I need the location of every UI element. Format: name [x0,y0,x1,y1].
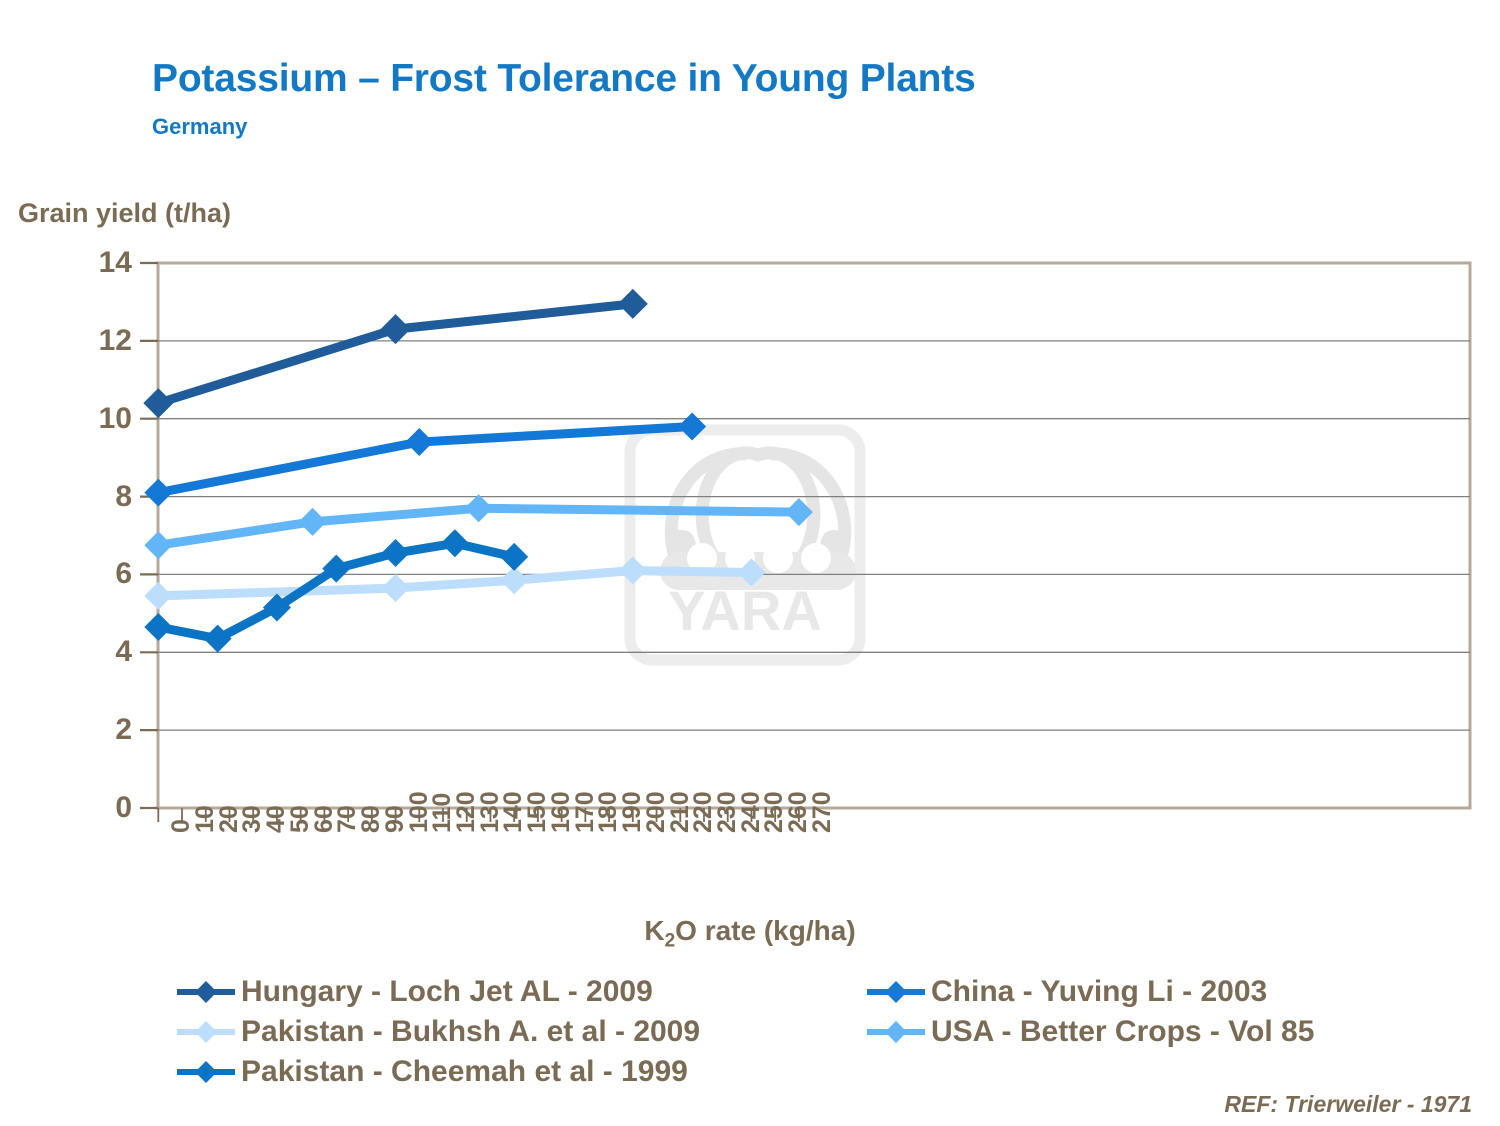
data-point-marker [381,314,411,344]
legend-item[interactable]: USA - Better Crops - Vol 85 [865,1015,1405,1049]
x-tick-label: 270 [808,791,837,833]
data-point-marker [144,613,172,641]
y-tick-label: 12 [72,324,132,358]
x-axis-title: K2O rate (kg/ha) [0,915,1500,953]
y-tick-label: 0 [72,791,132,825]
data-point-marker [144,479,172,507]
data-point-marker [619,557,647,585]
data-point-marker [144,531,172,559]
chart-svg: YARA [0,0,1500,1126]
series-line [158,543,514,638]
series-line [158,304,633,403]
legend-marker-icon [865,1019,927,1045]
y-tick-label: 10 [72,402,132,436]
data-point-marker [204,625,232,653]
legend-marker-icon [175,1059,237,1085]
y-tick-label: 14 [72,246,132,280]
legend-label: China - Yuving Li - 2003 [931,975,1267,1009]
chart-legend: Hungary - Loch Jet AL - 2009China - Yuvi… [175,972,1405,1092]
chart-title: Potassium – Frost Tolerance in Young Pla… [152,57,976,101]
legend-item[interactable]: China - Yuving Li - 2003 [865,975,1405,1009]
series-2 [144,557,765,610]
legend-item[interactable]: Pakistan - Bukhsh A. et al - 2009 [175,1015,865,1049]
data-point-marker [382,574,410,602]
y-tick-label: 6 [72,557,132,591]
legend-label: USA - Better Crops - Vol 85 [931,1015,1314,1049]
series-line [158,508,799,545]
plot-area: YARA [0,0,1500,1126]
legend-marker-icon [175,979,237,1005]
data-point-marker [143,388,173,418]
y-tick-label: 2 [72,713,132,747]
data-point-marker [500,566,528,594]
data-point-marker [678,412,706,440]
legend-marker-icon [175,1019,237,1045]
series-layer [143,289,813,653]
y-axis-ticks [140,263,158,808]
data-point-marker [785,498,813,526]
yara-watermark-icon: YARA [630,430,860,660]
y-tick-label: 8 [72,480,132,514]
data-point-marker [322,555,350,583]
data-point-marker [299,508,327,536]
legend-label: Pakistan - Cheemah et al - 1999 [241,1055,688,1089]
gridlines [158,341,1470,730]
x-axis-title-suffix: O rate (kg/ha) [675,915,855,946]
x-axis-title-prefix: K [644,915,664,946]
legend-item[interactable]: Pakistan - Cheemah et al - 1999 [175,1055,865,1089]
data-point-marker [465,494,493,522]
data-point-marker [441,529,469,557]
series-0 [143,289,648,418]
series-line [158,571,751,596]
data-point-marker [618,289,648,319]
series-3 [144,494,813,559]
legend-label: Pakistan - Bukhsh A. et al - 2009 [241,1015,700,1049]
data-point-marker [500,543,528,571]
data-point-marker [405,428,433,456]
data-point-marker [737,558,765,586]
plot-border [158,263,1470,808]
series-line [158,426,692,492]
legend-item[interactable]: Hungary - Loch Jet AL - 2009 [175,975,865,1009]
reference-note: REF: Trierweiler - 1971 [1224,1091,1472,1118]
y-tick-label: 4 [72,635,132,669]
x-axis-title-subscript: 2 [665,931,676,952]
data-point-marker [263,594,291,622]
chart-subtitle: Germany [152,114,247,140]
series-1 [144,412,706,506]
legend-marker-icon [865,979,927,1005]
legend-label: Hungary - Loch Jet AL - 2009 [241,975,653,1009]
data-point-marker [382,539,410,567]
data-point-marker [144,582,172,610]
svg-text:YARA: YARA [668,579,822,642]
y-axis-title: Grain yield (t/ha) [18,198,231,229]
series-4 [144,529,528,652]
